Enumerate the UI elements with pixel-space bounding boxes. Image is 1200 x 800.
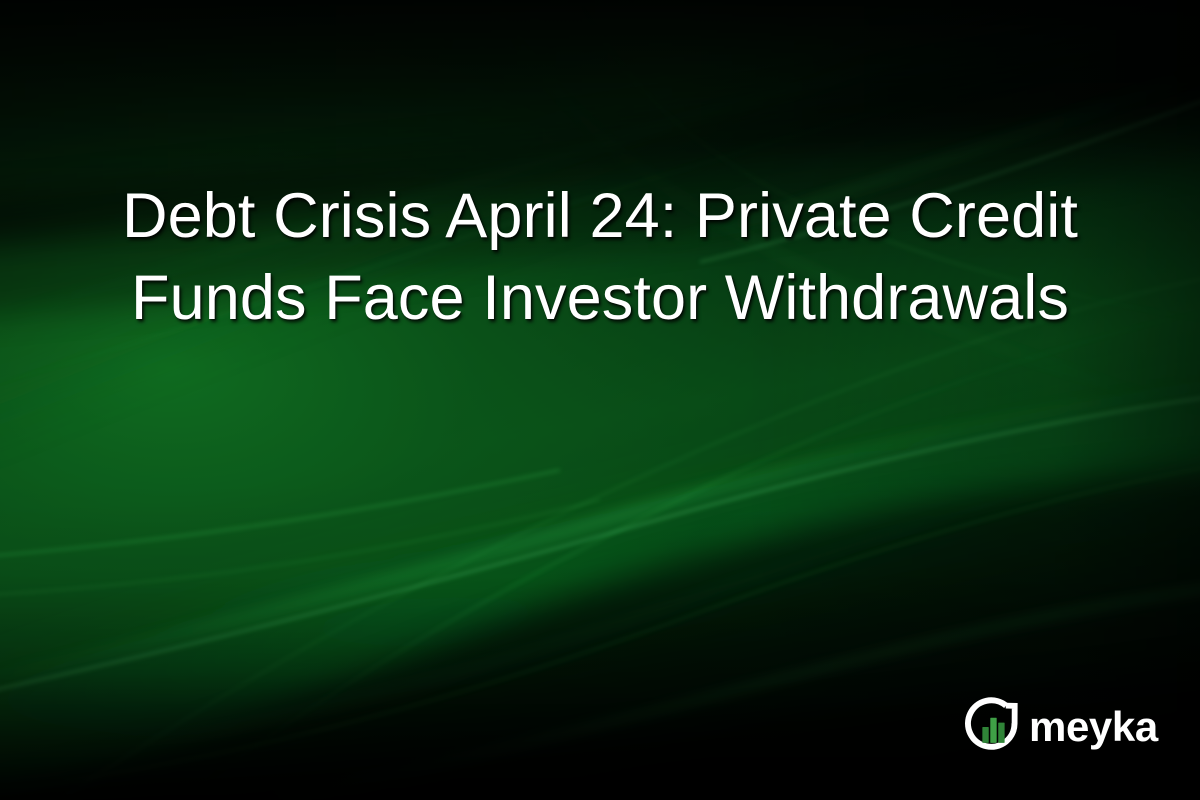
headline-block: Debt Crisis April 24: Private Credit Fun… <box>0 176 1200 340</box>
page-title: Debt Crisis April 24: Private Credit Fun… <box>70 176 1130 340</box>
brand-logo[interactable]: meyka <box>962 694 1158 756</box>
article-cover: Debt Crisis April 24: Private Credit Fun… <box>0 0 1200 800</box>
background-wave-art <box>0 0 1200 800</box>
meyka-logo-mark <box>962 694 1024 756</box>
brand-wordmark: meyka <box>1029 706 1158 748</box>
